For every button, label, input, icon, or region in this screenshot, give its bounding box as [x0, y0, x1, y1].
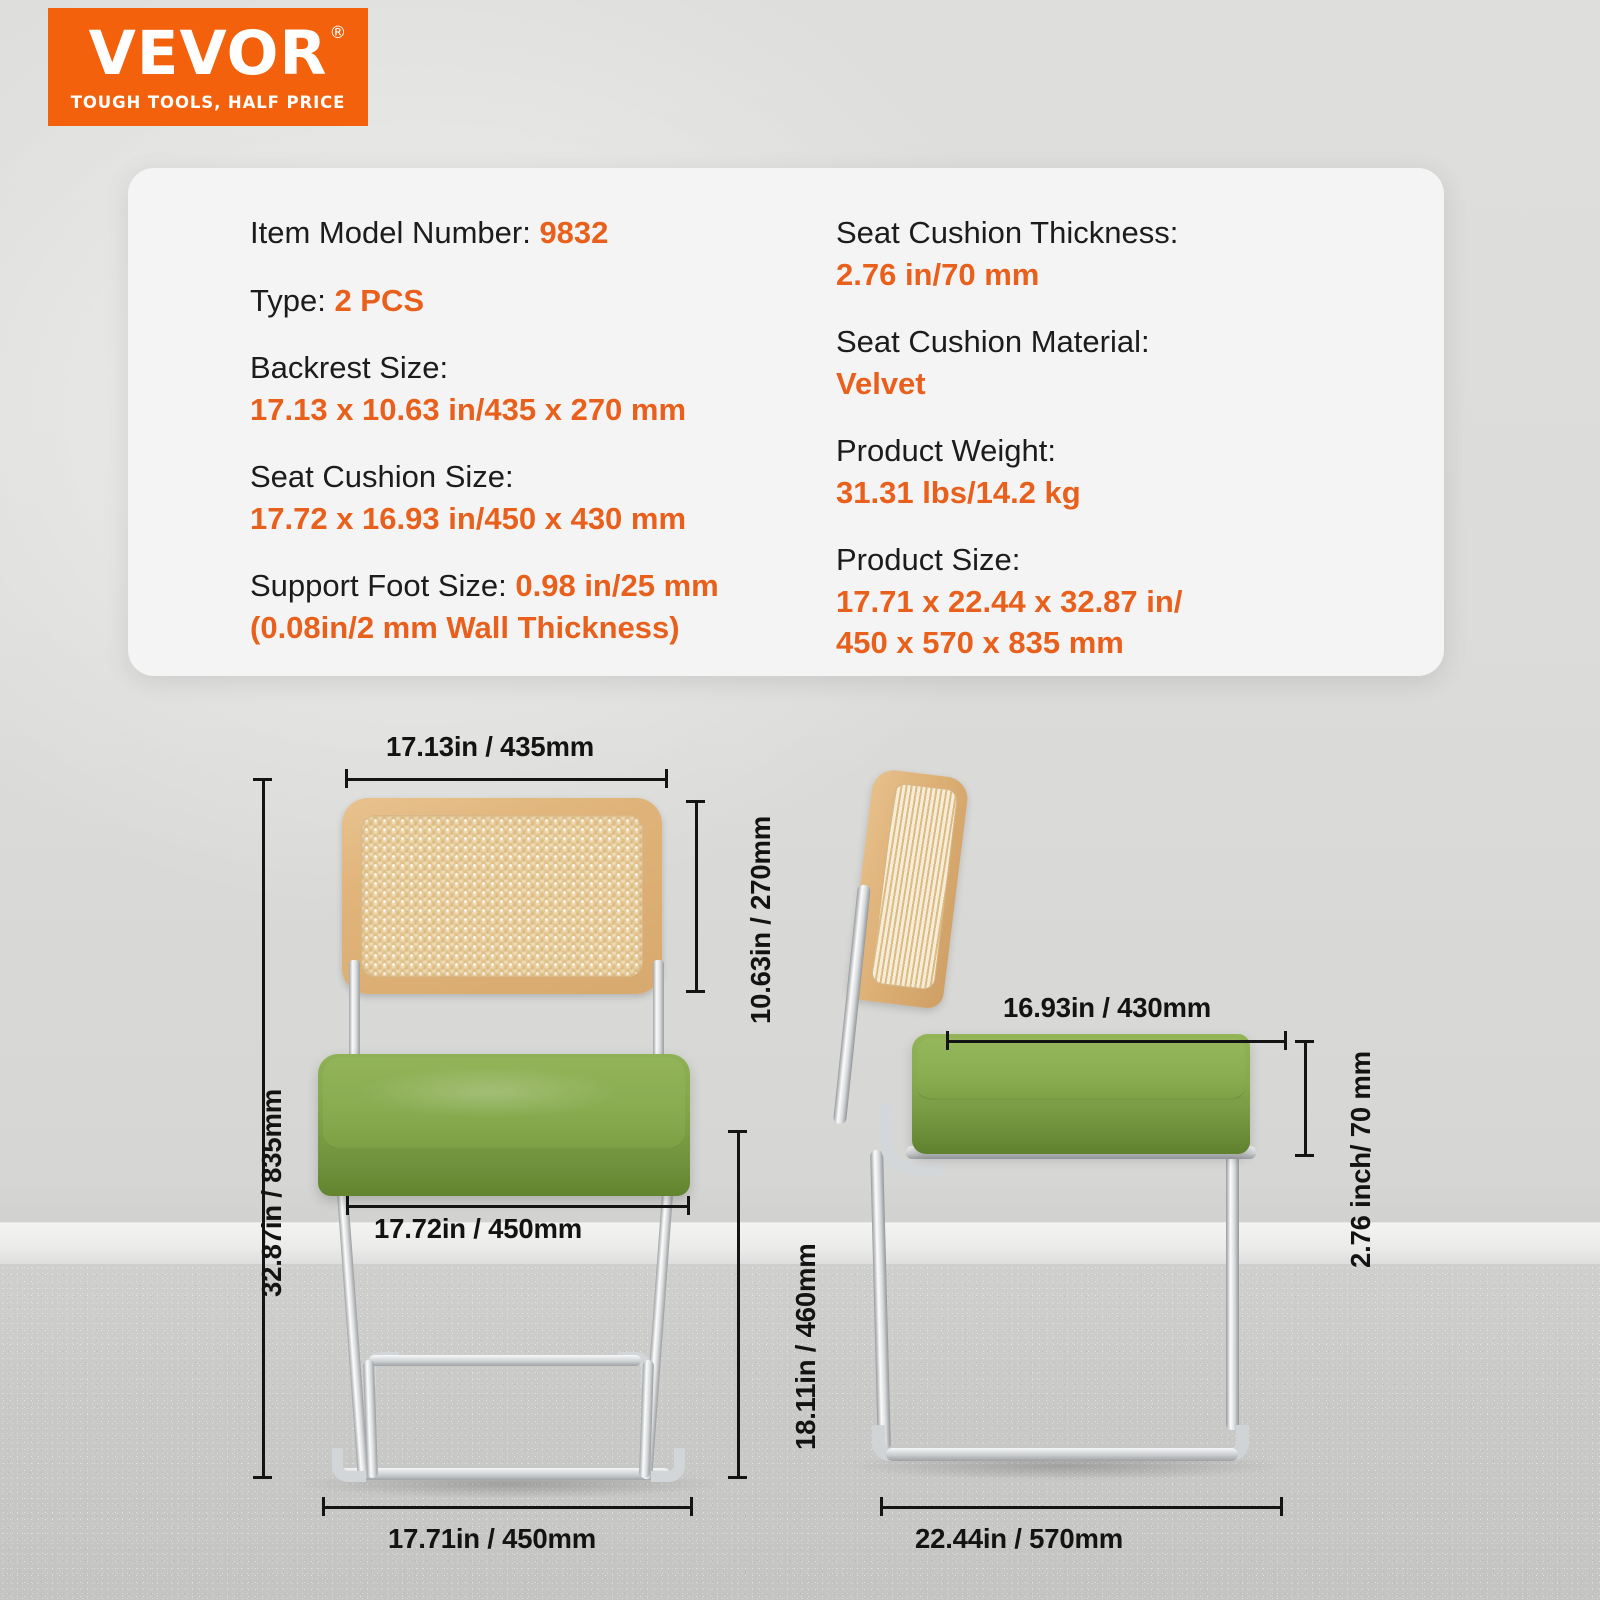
- spec-column-right: Seat Cushion Thickness: 2.76 in/70 mm Se…: [788, 204, 1444, 676]
- dimline-cushion-thickness: [1304, 1040, 1307, 1156]
- spec-item-seat-cushion-size: Seat Cushion Size: 17.72 x 16.93 in/450 …: [250, 456, 788, 539]
- spec-label: Support Foot Size:: [250, 568, 515, 603]
- spec-label: Item Model Number:: [250, 215, 539, 250]
- side-bottom-rail: [886, 1448, 1238, 1461]
- dimline-seat-width: [346, 1205, 689, 1208]
- dimline-total-depth: [880, 1506, 1282, 1509]
- spec-label: Seat Cushion Size:: [250, 456, 788, 498]
- brand-tagline: TOUGH TOOLS, HALF PRICE: [71, 93, 346, 112]
- spec-value: 31.31 lbs/14.2 kg: [836, 472, 1444, 514]
- specification-card: Item Model Number: 9832 Type: 2 PCS Back…: [128, 168, 1444, 676]
- base-corner-bottom-left: [332, 1448, 366, 1482]
- dim-seat-depth: 16.93in / 430mm: [1003, 992, 1211, 1024]
- dim-seat-width: 17.72in / 450mm: [374, 1213, 582, 1245]
- seat-cushion-side: [912, 1034, 1250, 1154]
- seat-cushion-top-face-side: [917, 1038, 1245, 1100]
- spec-value: 17.13 x 10.63 in/435 x 270 mm: [250, 389, 788, 431]
- base-cross-rail: [369, 1355, 641, 1366]
- tick-backrest-width-left: [345, 769, 348, 788]
- tick-base-width-left: [322, 1497, 325, 1516]
- dimline-backrest-width: [345, 778, 667, 781]
- spec-value: 2.76 in/70 mm: [836, 254, 1444, 296]
- tick-seat-height-top: [728, 1130, 747, 1133]
- spec-value: Velvet: [836, 363, 1444, 405]
- spec-label: Backrest Size:: [250, 347, 788, 389]
- dim-seat-height: 18.11in / 460mm: [790, 1244, 822, 1450]
- spec-value: 2 PCS: [334, 283, 424, 318]
- tick-backrest-width-right: [665, 769, 668, 788]
- tick-total-depth-left: [880, 1497, 883, 1516]
- spec-item-product-weight: Product Weight: 31.31 lbs/14.2 kg: [836, 430, 1444, 513]
- tick-seat-width-left: [346, 1196, 349, 1215]
- tick-seat-depth-left: [946, 1031, 949, 1050]
- tick-base-width-right: [690, 1497, 693, 1516]
- rattan-backrest-front: [342, 798, 662, 994]
- dim-base-width: 17.71in / 450mm: [388, 1523, 596, 1555]
- seat-cushion-front: [318, 1054, 690, 1196]
- seat-cushion-highlight: [359, 1066, 620, 1118]
- tick-total-height-bottom: [253, 1476, 272, 1479]
- dim-total-depth: 22.44in / 570mm: [915, 1523, 1123, 1555]
- vevor-logo: VEVOR ® TOUGH TOOLS, HALF PRICE: [48, 8, 368, 126]
- dim-backrest-height: 10.63in / 270mm: [745, 816, 777, 1024]
- side-leg-front: [1226, 1120, 1239, 1430]
- tick-backrest-height-bottom: [686, 990, 705, 993]
- brand-name-text: VEVOR: [89, 18, 328, 89]
- spec-value: 9832: [539, 215, 608, 250]
- cane-mesh-panel: [361, 815, 643, 977]
- dimline-backrest-height: [695, 800, 698, 992]
- tick-total-depth-right: [1280, 1497, 1283, 1516]
- spec-value-secondary: 450 x 570 x 835 mm: [836, 622, 1444, 664]
- spec-item-type: Type: 2 PCS: [250, 280, 788, 322]
- tick-backrest-height-top: [686, 800, 705, 803]
- spec-item-model-number: Item Model Number: 9832: [250, 212, 788, 254]
- tick-seat-height-bottom: [728, 1476, 747, 1479]
- spec-label: Type:: [250, 283, 334, 318]
- dimline-seat-depth: [946, 1040, 1286, 1043]
- spec-item-support-foot-size: Support Foot Size: 0.98 in/25 mm (0.08in…: [250, 565, 788, 648]
- dim-cushion-thickness: 2.76 inch/ 70 mm: [1345, 1051, 1377, 1268]
- seat-cushion-top-face: [323, 1058, 685, 1150]
- spec-label: Seat Cushion Material:: [836, 321, 1444, 363]
- spec-item-backrest-size: Backrest Size: 17.13 x 10.63 in/435 x 27…: [250, 347, 788, 430]
- spec-value: 17.71 x 22.44 x 32.87 in/: [836, 581, 1444, 623]
- tick-seat-depth-right: [1284, 1031, 1287, 1050]
- spec-column-left: Item Model Number: 9832 Type: 2 PCS Back…: [128, 204, 788, 676]
- tick-cushion-thickness-top: [1295, 1040, 1314, 1043]
- spec-label: Product Size:: [836, 539, 1444, 581]
- registered-mark-icon: ®: [329, 25, 347, 42]
- base-corner-bottom-right: [651, 1448, 685, 1482]
- spec-line: Support Foot Size: 0.98 in/25 mm: [250, 565, 788, 607]
- dimline-base-width: [322, 1506, 692, 1509]
- spec-value: 17.72 x 16.93 in/450 x 430 mm: [250, 498, 788, 540]
- base-bottom-bar: [340, 1468, 670, 1480]
- spec-item-cushion-material: Seat Cushion Material: Velvet: [836, 321, 1444, 404]
- brand-name: VEVOR ®: [89, 23, 328, 84]
- spec-item-product-size: Product Size: 17.71 x 22.44 x 32.87 in/ …: [836, 539, 1444, 664]
- cane-mesh-panel-side: [870, 782, 958, 990]
- dimline-seat-height: [737, 1130, 740, 1478]
- tick-total-height-top: [253, 778, 272, 781]
- spec-value: 0.98 in/25 mm: [515, 568, 718, 603]
- dim-total-height: 32.87in / 835mm: [256, 1089, 288, 1297]
- spec-value-secondary: (0.08in/2 mm Wall Thickness): [250, 607, 788, 649]
- tick-seat-width-right: [687, 1196, 690, 1215]
- spec-label: Product Weight:: [836, 430, 1444, 472]
- spec-item-cushion-thickness: Seat Cushion Thickness: 2.76 in/70 mm: [836, 212, 1444, 295]
- dim-backrest-width: 17.13in / 435mm: [386, 731, 594, 763]
- spec-label: Seat Cushion Thickness:: [836, 212, 1444, 254]
- tick-cushion-thickness-bottom: [1295, 1154, 1314, 1157]
